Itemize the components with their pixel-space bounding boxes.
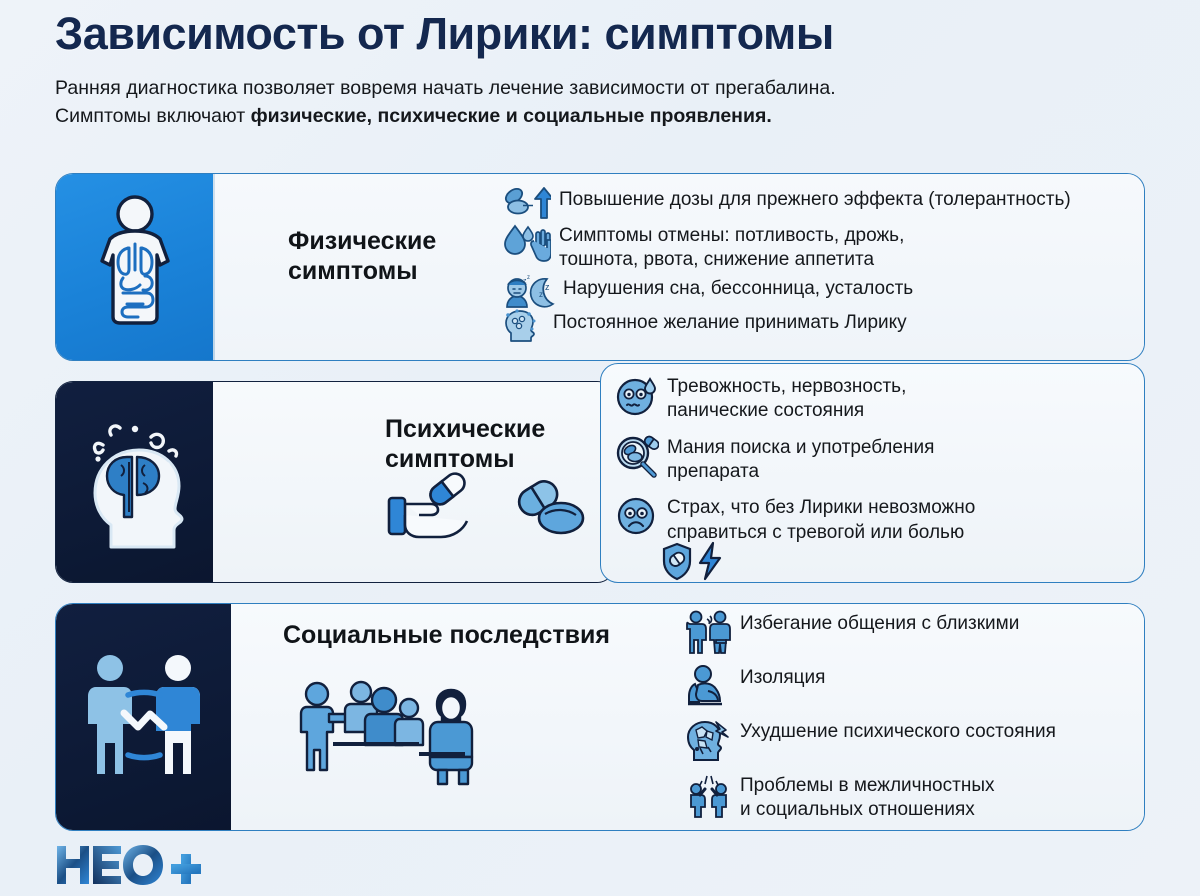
list-item: Тревожность, нервозность, панические сос… [615,373,1130,424]
list-item: Повышение дозы для прежнего эффекта (тол… [503,186,1145,220]
subtitle-line-2-bold: физические, психические и социальные про… [251,105,772,127]
list-item-text: Постоянное желание принимать Лирику [553,309,907,335]
physical-symptom-list: Повышение дозы для прежнего эффекта (тол… [503,186,1145,343]
logo[interactable] [55,842,205,888]
subtitle-line-2-plain: Симптомы включают [55,105,251,127]
list-item: Мания поиска и употребления препарата [615,434,1130,485]
list-item: Страх, что без Лирики невозможно справит… [615,494,1130,545]
sleeping-face-moon-icon: z z z z [503,275,555,309]
magnifier-pills-search-icon [615,434,659,478]
physical-body-panel: Физические симптомы Повышение дозы для п… [213,174,1144,360]
card-title-social: Социальные последствия [283,620,610,650]
sweat-drops-trembling-hand-icon [503,222,551,264]
list-item: Симптомы отмены: потливость, дрожь, тошн… [503,222,1145,273]
page-title: Зависимость от Лирики: симптомы [55,8,1155,60]
two-people-handshake-icon [80,651,208,783]
pills-group-icon [514,476,583,533]
card-psych-symptoms[interactable]: Психические симптомы [55,381,615,583]
svg-text:z: z [527,275,530,281]
two-persons-avoiding-icon [686,610,732,654]
card-title-psych: Психические симптомы [385,414,614,474]
sitting-person-alone-icon [686,664,732,708]
hand-holding-capsule-icon [389,470,468,537]
list-item-text: Мания поиска и употребления препарата [667,434,934,485]
list-item: Постоянное желание принимать Лирику [503,309,1145,343]
social-consequence-list: Избегание общения с близкими [686,610,1145,823]
subtitle-line-1: Ранняя диагностика позволяет вовремя нач… [55,77,836,99]
head-brain-icon [81,407,189,557]
shield-pill-icon [664,544,690,579]
psych-illustrations [385,470,615,551]
list-item: Ухудшение психического состояния [686,718,1145,762]
infographic-page: Зависимость от Лирики: симптомы Ранняя д… [0,0,1200,896]
lightning-bolt-icon [700,543,720,579]
list-item: z z z z Нарушения сна, бессонница, устал… [503,275,1145,309]
list-item-text: Ухудшение психического состояния [740,718,1056,744]
psych-symptom-list: Тревожность, нервозность, панические сос… [615,373,1130,545]
group-of-people-isolation-icon [291,666,491,791]
fearful-face-icon [615,494,659,538]
list-item: Изоляция [686,664,1145,708]
panel-divider [213,174,215,360]
list-item-text: Повышение дозы для прежнего эффекта (тол… [559,186,1071,212]
anxious-face-sweat-icon [615,373,659,417]
list-item: Избегание общения с близкими [686,610,1145,654]
list-item-text: Изоляция [740,664,825,690]
head-broken-mind-icon [686,718,732,762]
craving-head-icon [503,309,545,343]
list-item: Проблемы в межличностных и социальных от… [686,772,1145,823]
svg-text:z: z [545,282,550,292]
psych-icon-panel [56,382,213,582]
list-item-text: Проблемы в межличностных и социальных от… [740,772,994,823]
list-item-text: Тревожность, нервозность, панические сос… [667,373,906,424]
two-persons-conflict-icon [686,772,732,818]
psych-footer-icons [615,541,1130,586]
list-item-text: Симптомы отмены: потливость, дрожь, тошн… [559,222,904,273]
list-item-text: Страх, что без Лирики невозможно справит… [667,494,975,545]
list-item-text: Нарушения сна, бессонница, усталость [563,275,913,301]
psych-body-panel: Психические симптомы [213,382,614,582]
svg-text:z: z [539,290,543,299]
card-title-physical: Физические симптомы [288,226,498,286]
pills-up-arrow-icon [503,186,551,220]
social-icon-panel [56,604,231,830]
social-body-panel: Социальные последствия [231,604,1144,830]
neo-plus-logo-icon [55,842,205,888]
psych-items-panel: Тревожность, нервозность, панические сос… [600,363,1145,583]
card-social-consequences[interactable]: Социальные последствия [55,603,1145,831]
human-body-organs-icon [87,192,183,342]
list-item-text: Избегание общения с близкими [740,610,1019,636]
header: Зависимость от Лирики: симптомы Ранняя д… [55,8,1155,130]
physical-icon-panel [56,174,213,360]
card-physical-symptoms[interactable]: Физические симптомы Повышение дозы для п… [55,173,1145,361]
page-subtitle: Ранняя диагностика позволяет вовремя нач… [55,74,1155,131]
